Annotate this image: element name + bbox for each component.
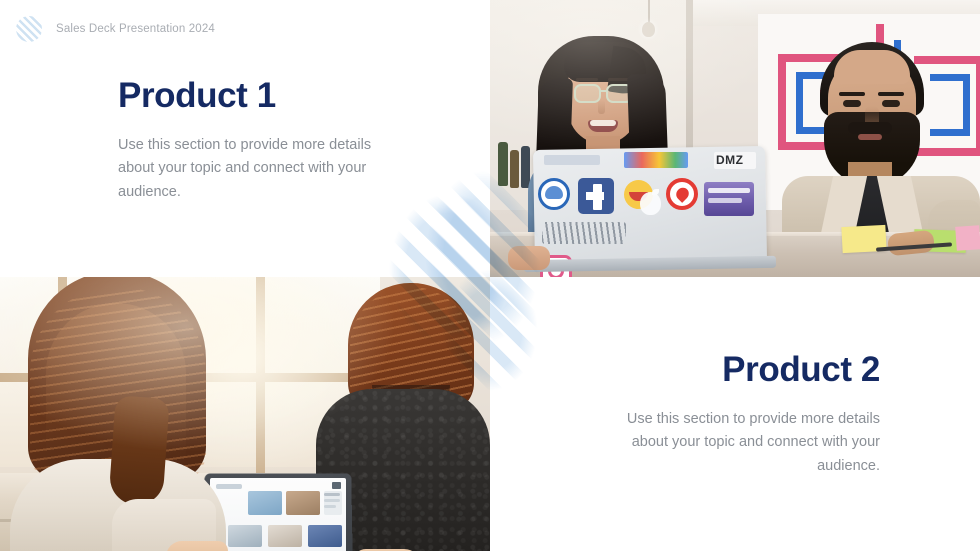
- woman-glasses-left-lens: [574, 84, 601, 103]
- screen-thumbnail: [308, 525, 342, 547]
- pendant-light: [642, 22, 655, 37]
- sticker-script-text: [542, 222, 626, 244]
- screen-badge: [332, 482, 341, 489]
- woman-a-hair-front: [108, 395, 169, 507]
- man-eye-right: [882, 100, 900, 107]
- bottle: [510, 150, 519, 188]
- photo-top-right: DMZ: [490, 0, 980, 277]
- man-lip: [858, 134, 882, 140]
- screen-text-line: [324, 493, 340, 496]
- striped-circle-logo-icon: [16, 16, 42, 42]
- woman-nose: [598, 100, 605, 114]
- section-product-1: Product 1 Use this section to provide mo…: [118, 78, 398, 204]
- product-2-title: Product 2: [600, 352, 880, 389]
- sticker-purple-line: [708, 198, 742, 203]
- sticker-facebook-bar: [586, 192, 604, 200]
- section-product-2: Product 2 Use this section to provide mo…: [600, 352, 880, 478]
- sticker-dmz-label: DMZ: [716, 153, 756, 167]
- product-2-body: Use this section to provide more details…: [600, 408, 880, 478]
- screen-thumbnail: [286, 491, 320, 515]
- screen-thumbnail: [228, 525, 262, 547]
- header-title: Sales Deck Presentation 2024: [56, 23, 215, 35]
- man-moustache: [848, 122, 892, 134]
- product-1-title: Product 1: [118, 78, 398, 115]
- photo-bottom-left: [0, 277, 490, 551]
- pendant-cord: [648, 0, 650, 23]
- screen-thumbnail: [248, 491, 282, 515]
- sticker-blue-inner: [545, 186, 563, 199]
- woman-a-hand: [166, 541, 228, 551]
- woman-hand: [508, 246, 550, 270]
- slide-canvas: DMZ: [0, 0, 980, 551]
- man-forehead: [834, 50, 910, 84]
- screen-text-line: [324, 505, 336, 508]
- man-eyebrow-right: [878, 92, 904, 96]
- woman-mouth: [588, 120, 618, 132]
- sticker-google: [624, 152, 688, 168]
- man-eye-left: [843, 100, 861, 107]
- apple-logo-icon: [640, 192, 661, 215]
- screen-thumbnail: [268, 525, 302, 547]
- product-1-body: Use this section to provide more details…: [118, 134, 398, 204]
- bottle: [498, 142, 508, 186]
- sticky-note-pink: [955, 225, 980, 251]
- woman-glasses-bridge: [600, 90, 608, 92]
- woman-eyebrow-left: [576, 78, 598, 81]
- sticker-text: [544, 155, 600, 165]
- man-eyebrow-left: [839, 92, 865, 96]
- screen-site-logo: [216, 484, 242, 489]
- screen-text-line: [324, 499, 340, 502]
- sticker-purple-line: [708, 188, 750, 193]
- slide-header: Sales Deck Presentation 2024: [16, 16, 215, 42]
